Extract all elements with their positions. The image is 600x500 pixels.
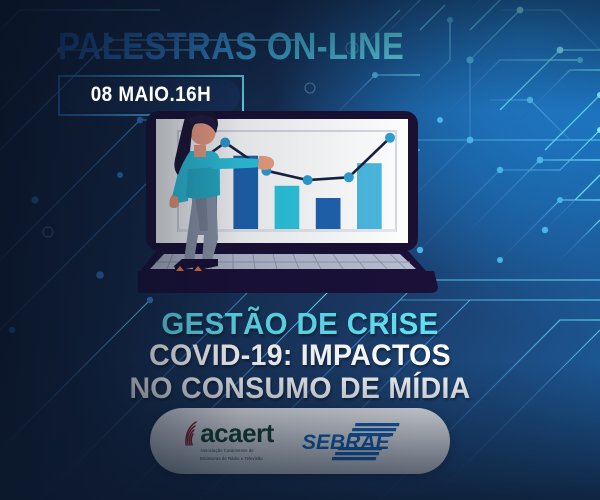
date-badge-label: 08 MAIO.16H — [91, 83, 212, 107]
sponsor-logo-bar: acaert Associação Catarinense de Emissor… — [150, 408, 450, 474]
acaert-logo[interactable]: acaert Associação Catarinense de Emissor… — [182, 420, 274, 461]
laptop-illustration — [138, 111, 463, 296]
promo-poster: PALESTRAS ON-LINE 08 MAIO.16H — [0, 0, 600, 500]
page-title: PALESTRAS ON-LINE — [58, 28, 404, 66]
date-badge: 08 MAIO.16H — [58, 75, 244, 116]
acaert-tagline-line-1: Associação Catarinense de — [200, 448, 274, 454]
headline-line-1: GESTÃO DE CRISE — [15, 308, 585, 340]
chart-bar — [316, 198, 341, 229]
headline-line-2: COVID-19: IMPACTOS — [15, 340, 585, 372]
header: PALESTRAS ON-LINE 08 MAIO.16H — [58, 28, 461, 116]
acaert-swoosh-icon — [182, 420, 200, 450]
sebrae-logo[interactable]: SEBRAE — [300, 421, 418, 461]
sebrae-wordmark: SEBRAE — [302, 431, 391, 454]
headline-line-3: NO CONSUMO DE MÍDIA — [15, 373, 585, 405]
chart-line-marker — [303, 175, 313, 185]
headline-block: GESTÃO DE CRISE COVID-19: IMPACTOS NO CO… — [0, 308, 600, 405]
chart-line-marker — [220, 138, 230, 148]
chart-bar — [357, 163, 382, 229]
chart-line-marker — [344, 172, 354, 182]
chart-line-marker — [385, 133, 395, 143]
sebrae-mark-icon: SEBRAE — [300, 421, 418, 461]
acaert-wordmark: acaert — [200, 420, 274, 446]
acaert-tagline-line-2: Emissoras de Rádio e Televisão — [200, 456, 274, 462]
chart-bar — [275, 186, 300, 229]
